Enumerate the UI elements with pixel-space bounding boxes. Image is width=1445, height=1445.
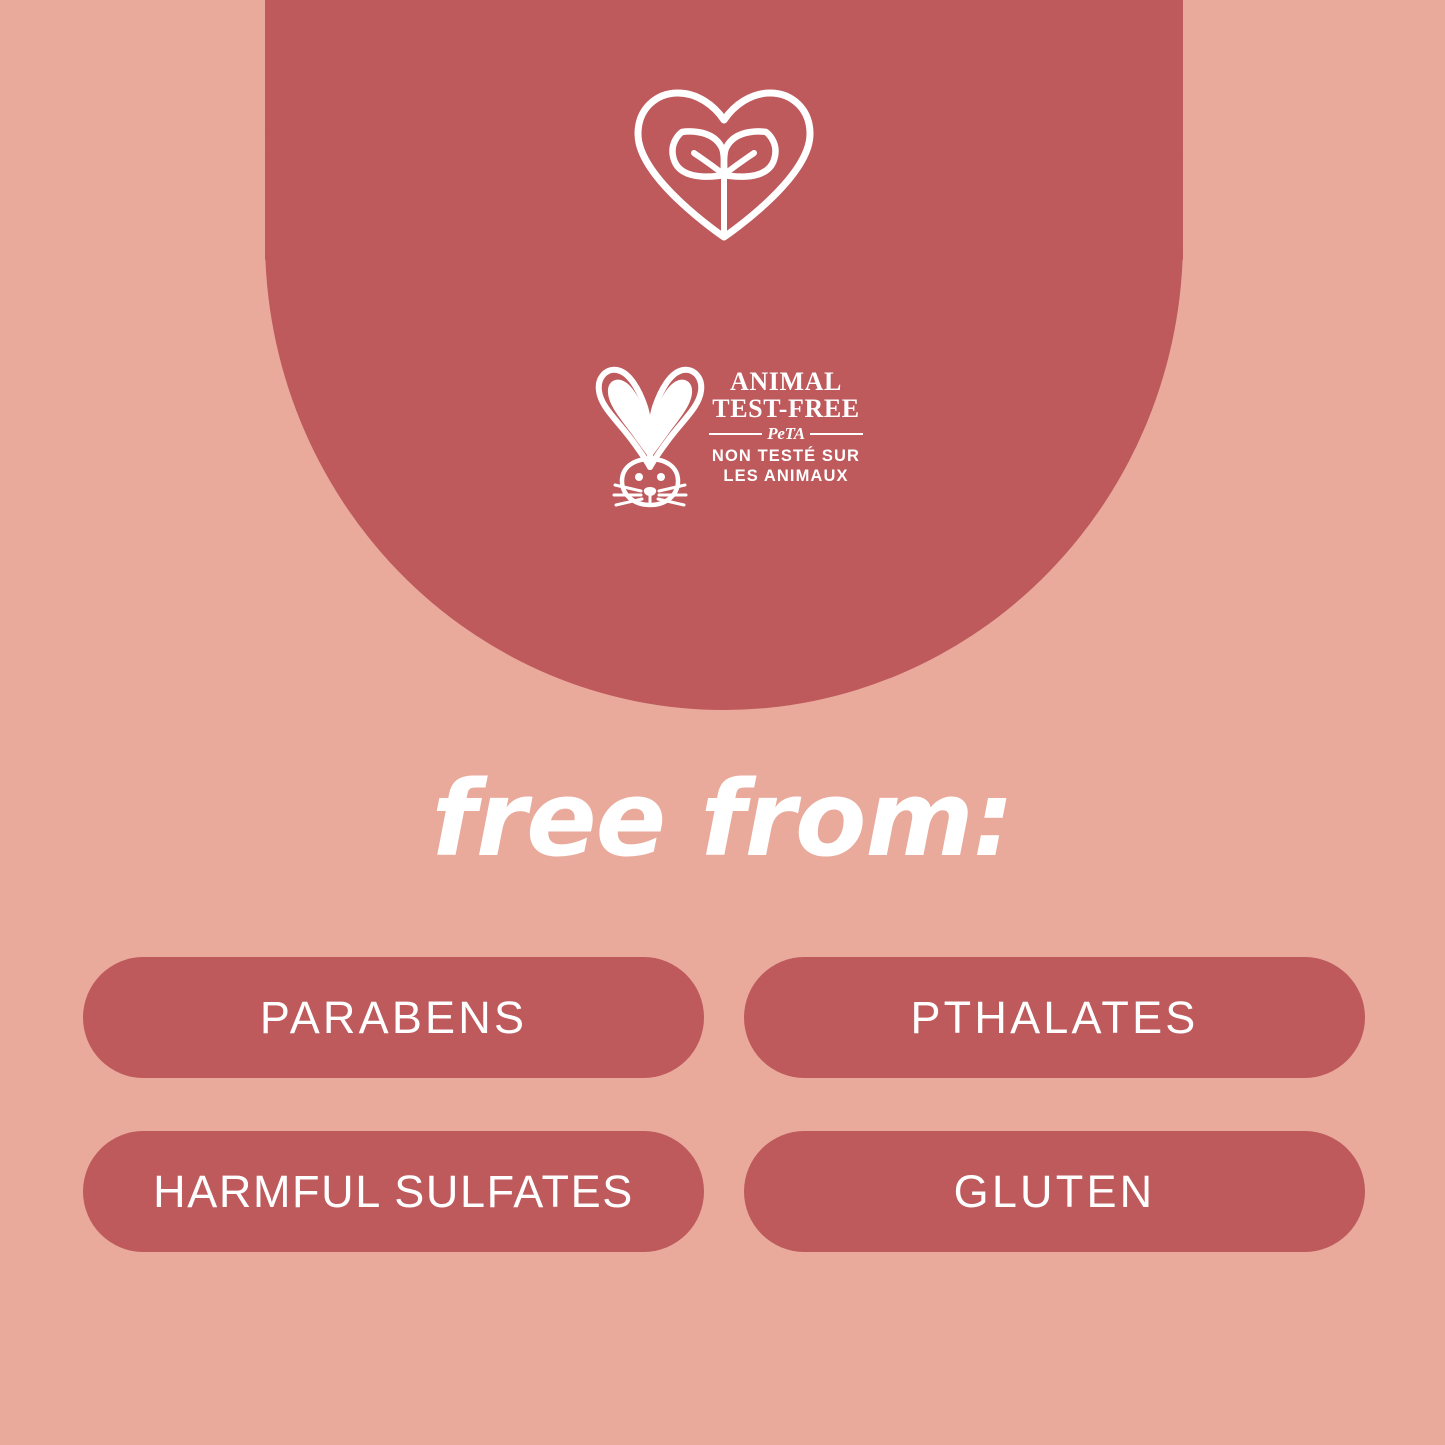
- page-title: free from:: [0, 763, 1445, 875]
- peta-badge-line2: TEST-FREE: [709, 396, 863, 423]
- peta-badge-french-line2: LES ANIMAUX: [709, 466, 863, 486]
- peta-badge-line1: ANIMAL: [709, 369, 863, 396]
- heart-eared-bunny-icon: [591, 363, 709, 509]
- peta-wordmark: PeTA: [767, 425, 805, 442]
- product-claims-graphic: ANIMAL TEST-FREE PeTA NON TESTÉ SUR LES …: [0, 0, 1445, 1445]
- peta-badge-french-line1: NON TESTÉ SUR: [709, 446, 863, 466]
- peta-rule-right: [810, 433, 863, 435]
- peta-badge-text: ANIMAL TEST-FREE PeTA NON TESTÉ SUR LES …: [709, 363, 863, 486]
- free-from-pill: PTHALATES: [744, 957, 1365, 1078]
- free-from-pill: PARABENS: [83, 957, 704, 1078]
- free-from-pill: HARMFUL SULFATES: [83, 1131, 704, 1252]
- peta-rule-left: [709, 433, 762, 435]
- peta-animal-test-free-badge: ANIMAL TEST-FREE PeTA NON TESTÉ SUR LES …: [591, 363, 863, 509]
- free-from-pill: GLUTEN: [744, 1131, 1365, 1252]
- free-from-pill-grid: PARABENS PTHALATES HARMFUL SULFATES GLUT…: [83, 957, 1365, 1252]
- heart-sprout-icon: [624, 82, 824, 247]
- peta-wordmark-row: PeTA: [709, 425, 863, 442]
